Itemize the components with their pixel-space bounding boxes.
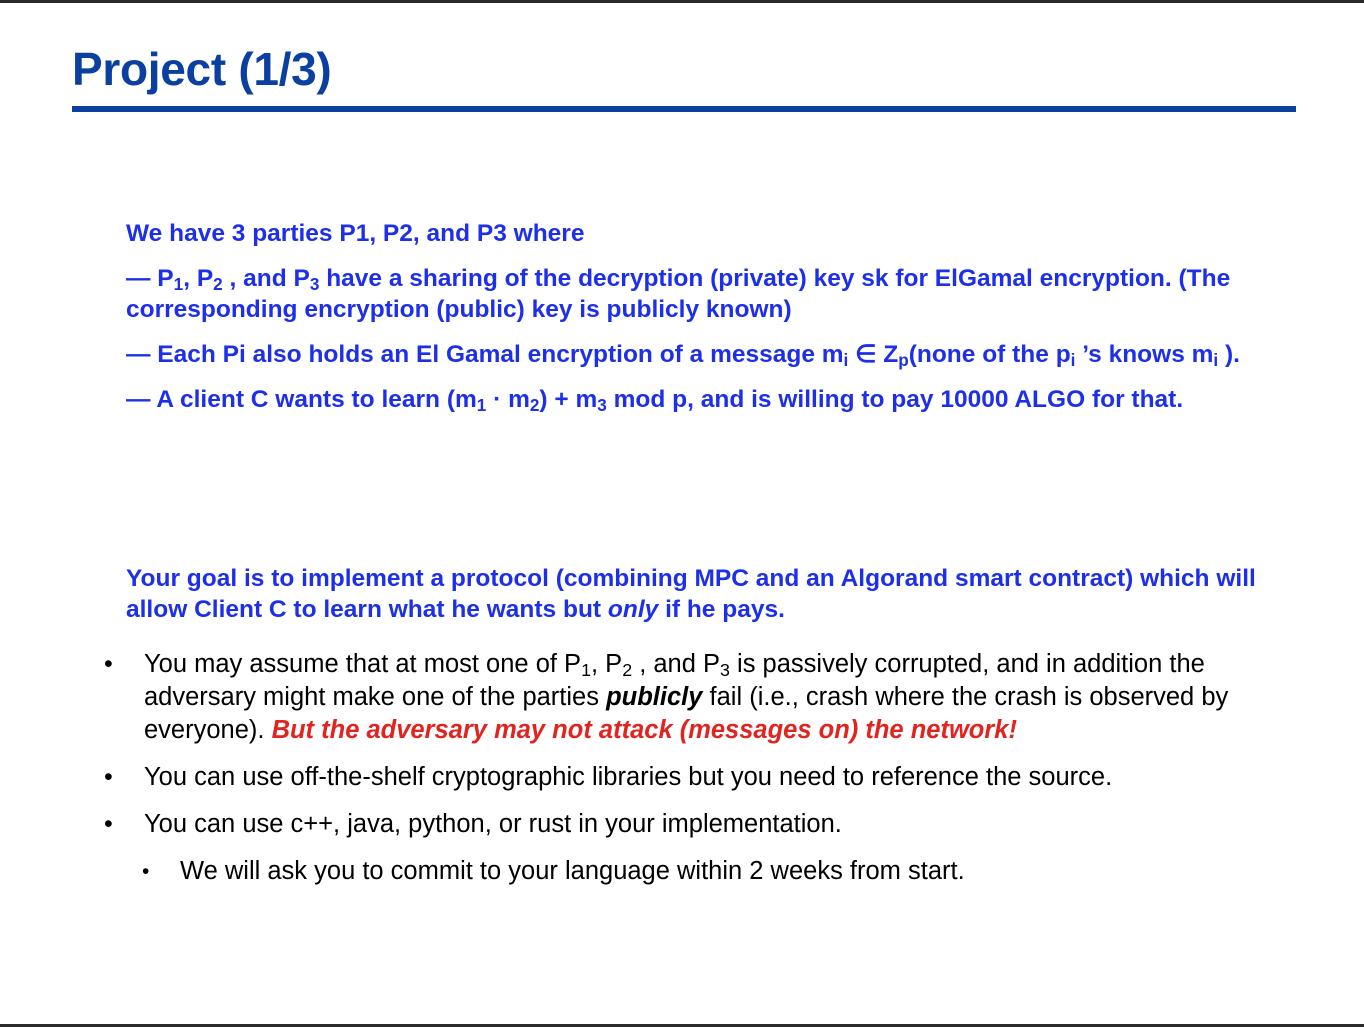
blue-dash-item-2: — Each Pi also holds an El Gamal encrypt… [126, 339, 1278, 370]
goal-run2: if he pays. [658, 596, 785, 623]
dash2-run1: Each Pi also holds an El Gamal encryptio… [151, 341, 844, 368]
dash2-run3: (none of the p [909, 341, 1071, 368]
b1-run2: , P [591, 650, 622, 678]
list-item-text: You can use c++, java, python, or rust i… [144, 808, 1294, 841]
dash1-sub2: 2 [213, 274, 223, 294]
blue-dash-item-1: — P1, P2 , and P3 have a sharing of the … [126, 263, 1278, 325]
bullet-dot-icon: • [142, 855, 180, 888]
sub-list-item-text: We will ask you to commit to your langua… [180, 855, 1294, 888]
blue-dash-item-3: — A client C wants to learn (m1 · m2) + … [126, 384, 1278, 415]
list-item: • You may assume that at most one of P1,… [104, 648, 1294, 747]
blue-intro-text: We have 3 parties P1, P2, and P3 where [126, 220, 584, 247]
bullet-dot-icon: • [104, 761, 144, 794]
goal-emphasis-only: only [608, 596, 658, 623]
blue-intro-line: We have 3 parties P1, P2, and P3 where [126, 218, 1278, 249]
b1-emphasis-publicly: publicly [606, 683, 702, 711]
dash1-sub3: 3 [310, 274, 320, 294]
dash3-run4: mod p, and is willing to pay 10000 ALGO … [607, 386, 1183, 413]
b1-run3: , and P [632, 650, 720, 678]
bullet-dot-icon: • [104, 808, 144, 841]
dash3-sub2: 2 [530, 395, 540, 415]
dash2-run2: ∈ Z [848, 341, 898, 368]
b1-warning-red: But the adversary may not attack (messag… [272, 716, 1017, 744]
b1-sub3: 3 [720, 660, 730, 680]
goal-text: Your goal is to implement a protocol (co… [126, 563, 1266, 625]
dash1-run3: , and P [223, 265, 310, 292]
requirements-bullet-list: • You may assume that at most one of P1,… [104, 648, 1294, 888]
dash2-run4: ’s knows m [1075, 341, 1213, 368]
dash3-run1: A client C wants to learn (m [151, 386, 477, 413]
blue-text-block: We have 3 parties P1, P2, and P3 where —… [126, 218, 1278, 429]
b1-sub1: 1 [581, 660, 591, 680]
em-dash: — [126, 341, 151, 368]
b1-sub2: 2 [622, 660, 632, 680]
goal-paragraph: Your goal is to implement a protocol (co… [126, 563, 1266, 625]
bullet-dot-icon: • [104, 648, 144, 681]
list-item: • You can use c++, java, python, or rust… [104, 808, 1294, 841]
em-dash: — [126, 265, 151, 292]
dash3-sub3: 3 [597, 395, 607, 415]
list-item-text: You can use off-the-shelf cryptographic … [144, 761, 1294, 794]
dash1-run2: , P [183, 265, 213, 292]
list-item: • You can use off-the-shelf cryptographi… [104, 761, 1294, 794]
title-underline-rule [72, 106, 1296, 112]
em-dash: — [126, 386, 151, 413]
dash2-sub2: p [898, 350, 908, 370]
b1-run1: You may assume that at most one of P [144, 650, 581, 678]
title-block: Project (1/3) [72, 41, 1296, 112]
list-item-text: You may assume that at most one of P1, P… [144, 648, 1294, 747]
dash1-run1: P [151, 265, 174, 292]
page-title: Project (1/3) [72, 41, 1296, 97]
dash3-run3: ) + m [539, 386, 597, 413]
dash3-run2: · m [486, 386, 530, 413]
dash3-sub1: 1 [477, 395, 487, 415]
slide-canvas: Project (1/3) We have 3 parties P1, P2, … [0, 0, 1364, 1027]
sub-list-item: • We will ask you to commit to your lang… [142, 855, 1294, 888]
dash1-sub1: 1 [174, 274, 184, 294]
dash2-run5: ). [1218, 341, 1240, 368]
